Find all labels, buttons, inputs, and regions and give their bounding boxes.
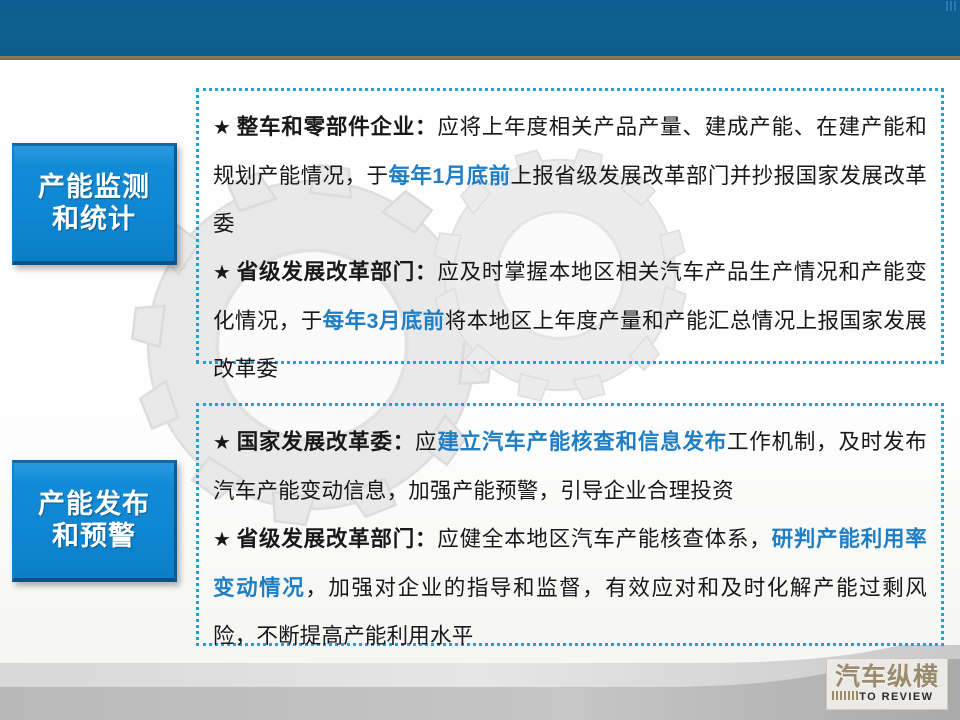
star-icon: ★ [213, 117, 232, 139]
paragraph-body-before: 应 [415, 430, 437, 454]
section-label-line2: 和统计 [52, 204, 136, 236]
logo-chinese-text: 汽车纵横 [835, 665, 939, 690]
slide-canvas: 四、产能监测预警 产能监测 和统计 产能发布 和预警 ★整车和零部件企业：应将上… [0, 0, 960, 720]
bullet-paragraph: ★省级发展改革部门：应健全本地区汽车产能核查体系，研判产能利用率变动情况，加强对… [213, 515, 927, 660]
paragraph-colon: ： [393, 430, 415, 454]
paragraph-colon: ： [415, 260, 437, 284]
paragraph-highlight: 建立汽车产能核查和信息发布 [437, 430, 727, 454]
section-label-line1: 产能发布 [38, 489, 150, 521]
section-label-capacity-monitoring[interactable]: 产能监测 和统计 [12, 143, 177, 265]
slide-header-bar [0, 0, 960, 56]
section-label-capacity-release-warning[interactable]: 产能发布 和预警 [12, 460, 177, 582]
bullet-paragraph: ★整车和零部件企业：应将上年度相关产品产量、建成产能、在建产能和规划产能情况，于… [213, 103, 927, 248]
paragraph-lead: 国家发展改革委 [237, 430, 393, 454]
star-icon: ★ [213, 432, 232, 454]
paragraph-highlight: 每年3月底前 [323, 309, 445, 333]
content-panel-monitoring: ★整车和零部件企业：应将上年度相关产品产量、建成产能、在建产能和规划产能情况，于… [196, 88, 944, 364]
paragraph-lead: 省级发展改革部门 [237, 260, 415, 284]
bullet-paragraph: ★省级发展改革部门：应及时掌握本地区相关汽车产品生产情况和产能变化情况，于每年3… [213, 248, 927, 393]
paragraph-lead: 省级发展改革部门 [237, 527, 415, 551]
paragraph-body-before: 应健全本地区汽车产能核查体系， [437, 527, 771, 551]
paragraph-body-after: ，加强对企业的指导和监督，有效应对和及时化解产能过剩风险，不断提高产能利用水平 [213, 576, 927, 648]
content-panel-release-warning: ★国家发展改革委：应建立汽车产能核查和信息发布工作机制，及时发布汽车产能变动信息… [196, 403, 944, 646]
paragraph-lead: 整车和零部件企业 [237, 115, 415, 139]
corner-artifact-icon [946, 1, 958, 11]
star-icon: ★ [213, 262, 232, 284]
logo-bar-icon [832, 691, 858, 700]
paragraph-colon: ： [415, 115, 437, 139]
paragraph-highlight: 每年1月底前 [388, 164, 510, 188]
publication-logo: 汽车纵横 AUTO REVIEW [826, 658, 948, 710]
bullet-paragraph: ★国家发展改革委：应建立汽车产能核查和信息发布工作机制，及时发布汽车产能变动信息… [213, 418, 927, 515]
star-icon: ★ [213, 529, 232, 551]
paragraph-colon: ： [415, 527, 437, 551]
header-divider-rule [0, 56, 960, 60]
section-label-line2: 和预警 [52, 521, 136, 553]
section-label-line1: 产能监测 [38, 172, 150, 204]
